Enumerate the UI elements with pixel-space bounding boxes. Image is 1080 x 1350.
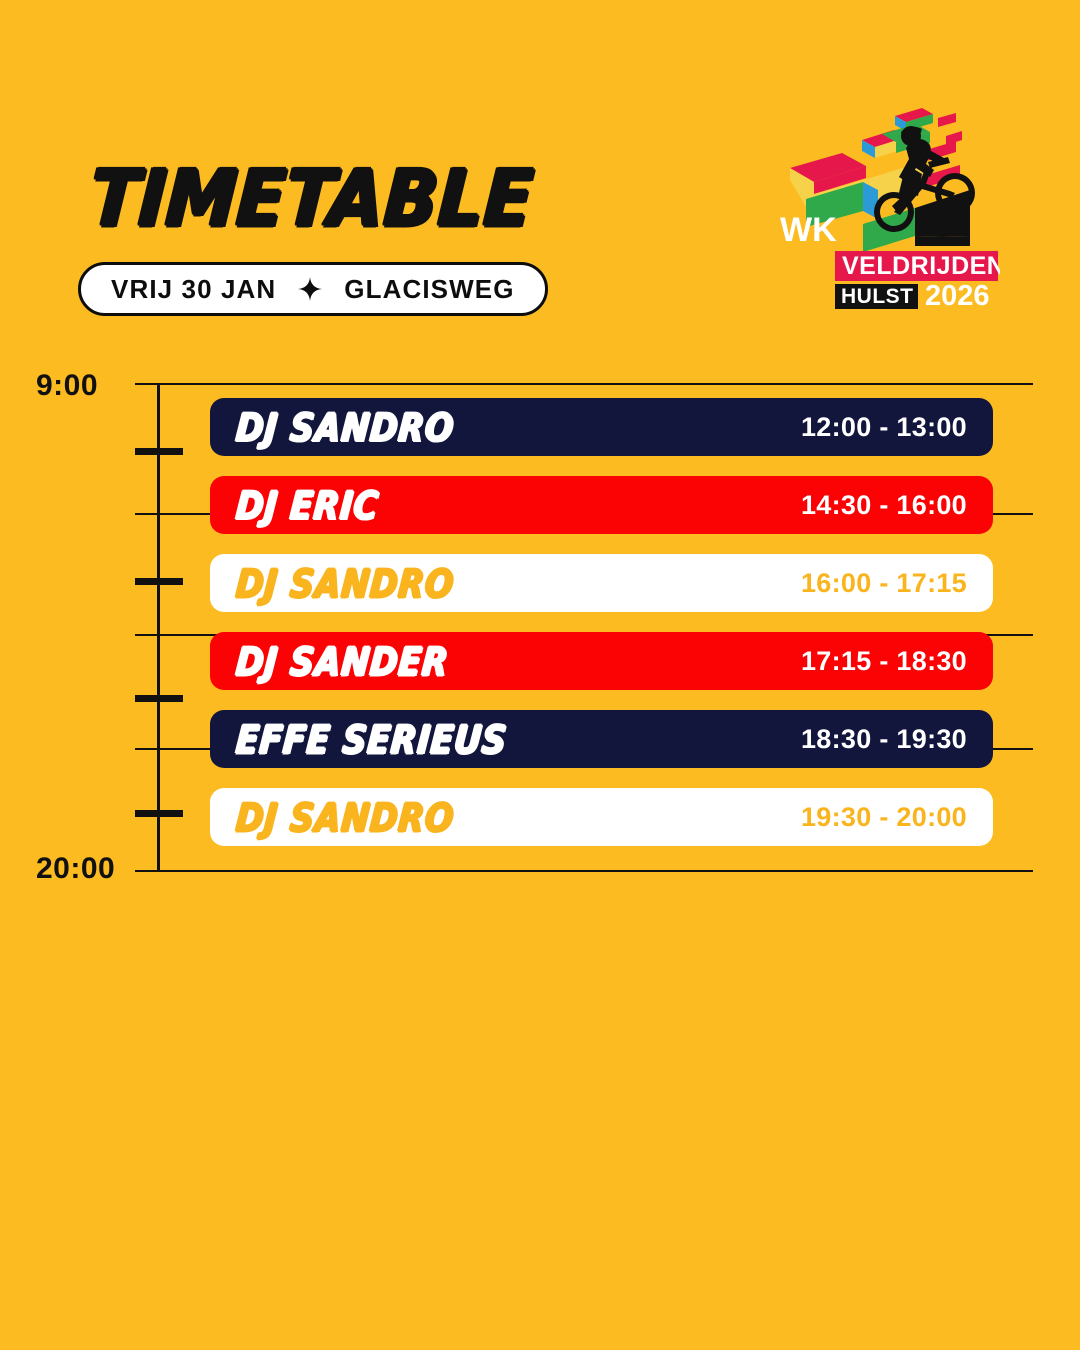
logo-year-text: 2026 [925,280,990,311]
act-time: 18:30 - 19:30 [801,726,967,753]
badge-location: GLACISWEG [344,276,514,302]
schedule-row[interactable]: DJ ERIC 14:30 - 16:00 [210,476,993,534]
wk-veldrijden-hulst-logo: WK VELDRIJDEN HULST 2026 [770,96,1000,311]
schedule-list: DJ SANDRO 12:00 - 13:00 DJ ERIC 14:30 - … [210,398,993,846]
page-title: TIMETABLE [88,160,536,238]
schedule-row[interactable]: DJ SANDRO 12:00 - 13:00 [210,398,993,456]
act-time: 19:30 - 20:00 [801,804,967,831]
schedule-row[interactable]: EFFE SERIEUS 18:30 - 19:30 [210,710,993,768]
act-time: 12:00 - 13:00 [801,414,967,441]
act-name: DJ SANDRO [234,408,455,447]
timeline-end-label: 20:00 [36,854,115,884]
badge-date: VRIJ 30 JAN [111,276,276,302]
act-name: DJ SANDRO [234,798,455,837]
timeline-tick [135,695,183,702]
schedule-row[interactable]: DJ SANDER 17:15 - 18:30 [210,632,993,690]
act-time: 17:15 - 18:30 [801,648,967,675]
act-name: DJ SANDER [234,642,450,681]
schedule-row[interactable]: DJ SANDRO 16:00 - 17:15 [210,554,993,612]
act-time: 16:00 - 17:15 [801,570,967,597]
timeline-tick [135,578,183,585]
logo-veldrijden-text: VELDRIJDEN [842,252,1000,280]
timeline-gridline [135,870,1033,872]
act-name: DJ ERIC [234,486,380,525]
sparkle-icon [298,277,322,301]
schedule-row[interactable]: DJ SANDRO 19:30 - 20:00 [210,788,993,846]
timeline-vertical-line [157,384,160,872]
logo-wk-text: WK [780,211,837,249]
timeline-tick [135,810,183,817]
act-time: 14:30 - 16:00 [801,492,967,519]
act-name: DJ SANDRO [234,564,455,603]
poster-canvas: TIMETABLE VRIJ 30 JAN GLACISWEG [0,0,1080,1350]
act-name: EFFE SERIEUS [234,720,508,759]
date-location-badge: VRIJ 30 JAN GLACISWEG [78,262,548,316]
timeline-gridline [135,383,1033,385]
timeline-start-label: 9:00 [36,371,98,401]
logo-hulst-text: HULST [841,285,914,308]
timeline-tick [135,448,183,455]
